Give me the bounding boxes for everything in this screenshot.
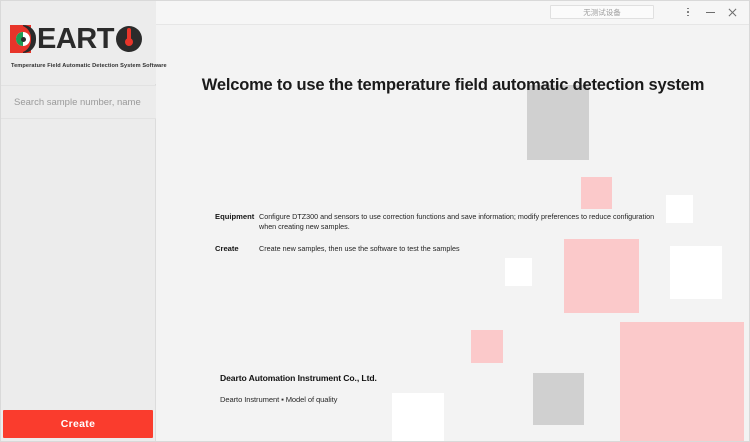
minimize-icon[interactable] <box>700 2 720 22</box>
page-title: Welcome to use the temperature field aut… <box>156 76 750 95</box>
sample-list <box>0 120 156 404</box>
logo-d-icon <box>10 25 36 53</box>
brand-logo-block: EART Temperature Field Automatic Detecti… <box>0 0 156 84</box>
sample-search-row[interactable] <box>0 85 156 119</box>
device-search-input[interactable] <box>550 5 654 19</box>
logo-thermometer-icon <box>115 25 143 53</box>
info-table: Equipment Configure DTZ300 and sensors t… <box>215 212 715 266</box>
search-input[interactable] <box>14 97 144 108</box>
brand-logo: EART <box>10 22 143 56</box>
info-row: Create Create new samples, then use the … <box>215 244 715 254</box>
info-row-label: Equipment <box>215 212 259 232</box>
logo-letters: EART <box>37 25 114 53</box>
company-name: Dearto Automation Instrument Co., Ltd. <box>220 373 377 383</box>
decorative-square <box>471 330 503 363</box>
decorative-square <box>392 393 444 442</box>
kebab-menu-icon[interactable] <box>678 2 698 22</box>
close-icon[interactable] <box>722 2 742 22</box>
footer: Dearto Automation Instrument Co., Ltd. D… <box>220 373 377 404</box>
brand-tagline: Temperature Field Automatic Detection Sy… <box>11 63 153 69</box>
company-slogan: Dearto Instrument ▪ Model of quality <box>220 395 377 404</box>
decorative-square <box>533 373 584 425</box>
application-window: EART Temperature Field Automatic Detecti… <box>0 0 750 442</box>
decorative-square <box>581 177 612 209</box>
info-row-label: Create <box>215 244 259 254</box>
create-button[interactable]: Create <box>3 410 153 438</box>
info-row-description: Create new samples, then use the softwar… <box>259 244 460 254</box>
info-row: Equipment Configure DTZ300 and sensors t… <box>215 212 715 232</box>
main-content: Welcome to use the temperature field aut… <box>156 0 750 442</box>
sidebar: EART Temperature Field Automatic Detecti… <box>0 0 156 442</box>
title-bar <box>156 0 750 25</box>
decorative-square <box>620 322 744 442</box>
info-row-description: Configure DTZ300 and sensors to use corr… <box>259 212 659 232</box>
decorative-square <box>527 85 589 160</box>
